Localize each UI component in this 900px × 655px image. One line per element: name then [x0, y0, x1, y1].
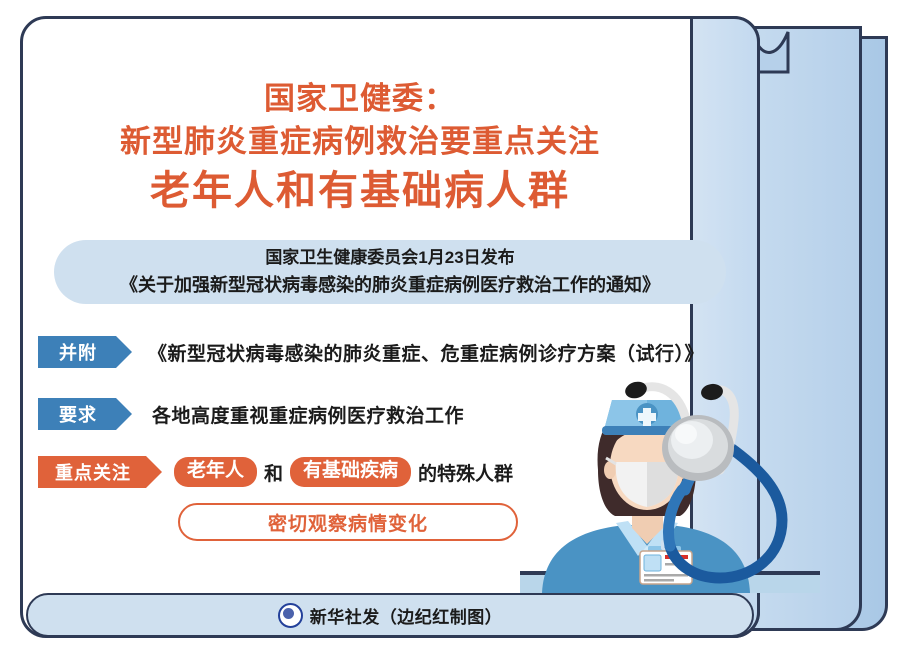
focus-conjunction: 和 [259, 459, 288, 486]
row-tag-attachment: 并附 [38, 336, 116, 368]
row-text-attachment: 《新型冠状病毒感染的肺炎重症、危重症病例诊疗方案（试行）》 [148, 339, 704, 366]
focus-chip-chronic-illness: 有基础疾病 [290, 457, 411, 487]
detail-row-focus: 重点关注 老年人 和 有基础疾病 的特殊人群 [38, 456, 518, 488]
subtitle-line-2: 《关于加强新型冠状病毒感染的肺炎重症病例医疗救治工作的通知》 [120, 271, 660, 299]
row-text-focus: 老年人 和 有基础疾病 的特殊人群 [172, 457, 518, 487]
title-line-3: 老年人和有基础病人群 [20, 164, 700, 218]
subtitle-banner: 国家卫生健康委员会1月23日发布 《关于加强新型冠状病毒感染的肺炎重症病例医疗救… [54, 240, 726, 304]
detail-row-attachment: 并附 《新型冠状病毒感染的肺炎重症、危重症病例诊疗方案（试行）》 [38, 336, 704, 368]
detail-row-requirement: 要求 各地高度重视重症病例医疗救治工作 [38, 398, 464, 430]
footer-credit-text: 新华社发（边纪红制图） [310, 603, 503, 628]
row-tag-focus: 重点关注 [38, 456, 146, 488]
title-line-1: 国家卫健委： [20, 78, 700, 120]
subtitle-line-1: 国家卫生健康委员会1月23日发布 [265, 245, 514, 271]
title-line-2: 新型肺炎重症病例救治要重点关注 [20, 120, 700, 164]
footer-credit-bar: 新华社发（边纪红制图） [26, 593, 754, 637]
page-title: 国家卫健委： 新型肺炎重症病例救治要重点关注 老年人和有基础病人群 [20, 78, 700, 218]
focus-chip-elderly: 老年人 [174, 457, 257, 487]
callout-observe-closely: 密切观察病情变化 [178, 503, 518, 541]
focus-tail-text: 的特殊人群 [413, 459, 518, 486]
infographic-canvas: 国家卫健委： 新型肺炎重症病例救治要重点关注 老年人和有基础病人群 国家卫生健康… [0, 0, 900, 655]
row-text-requirement: 各地高度重视重症病例医疗救治工作 [152, 401, 464, 428]
nurse-illustration [520, 378, 820, 593]
xinhua-logo-icon [278, 603, 303, 628]
row-tag-requirement: 要求 [38, 398, 116, 430]
